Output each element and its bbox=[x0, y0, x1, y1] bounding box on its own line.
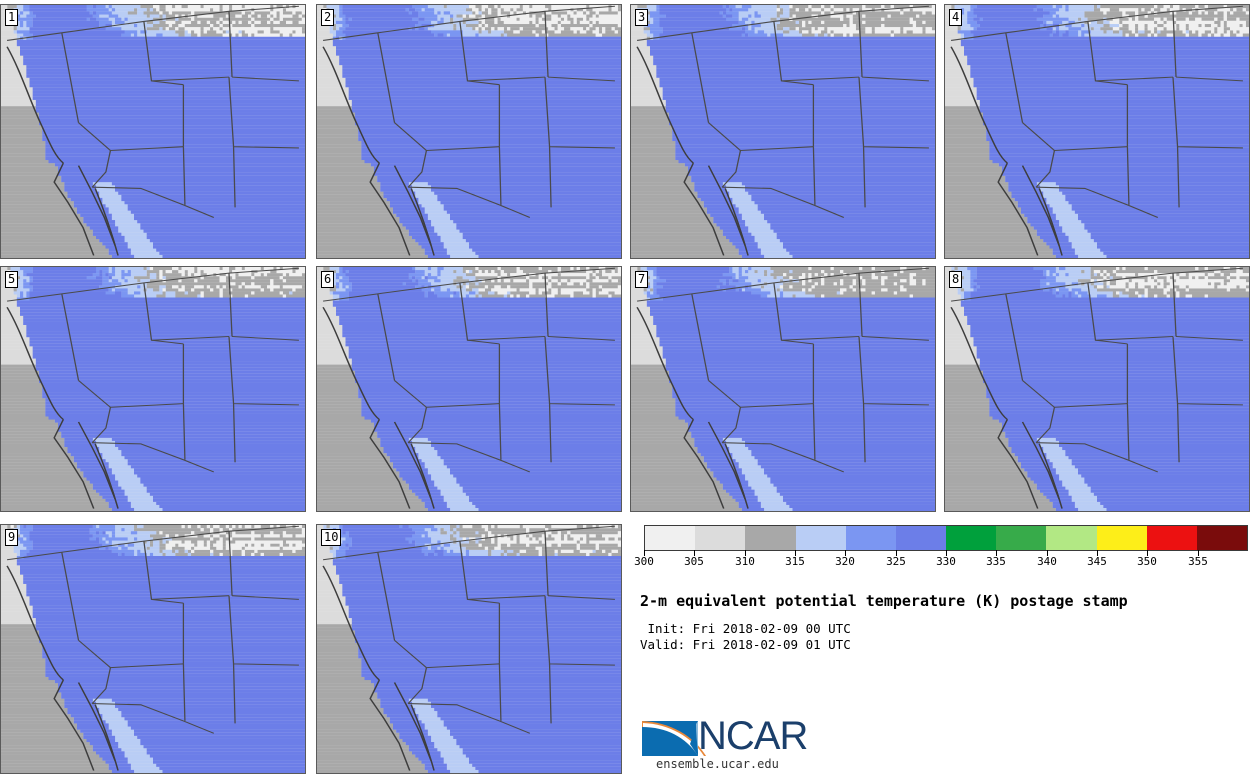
member-panel-10[interactable]: 10 bbox=[316, 524, 622, 774]
member-panel-4[interactable]: 4 bbox=[944, 4, 1250, 259]
colorbar-swatch bbox=[796, 526, 846, 550]
colorbar-swatch bbox=[645, 526, 695, 550]
colorbar-tick-label: 330 bbox=[936, 555, 956, 568]
figure-canvas: 12345678910 3003053103153203253303353403… bbox=[0, 0, 1260, 778]
colorbar-tick-label: 310 bbox=[735, 555, 755, 568]
colorbar-swatch bbox=[1197, 526, 1247, 550]
colorbar-tick-label: 320 bbox=[835, 555, 855, 568]
colorbar: 300305310315320325330335340345350355 bbox=[644, 525, 1248, 551]
init-time-text: Init: Fri 2018-02-09 00 UTC bbox=[640, 621, 851, 636]
member-panel-5[interactable]: 5 bbox=[0, 266, 306, 512]
colorbar-swatches bbox=[644, 525, 1248, 551]
colorbar-swatch bbox=[1046, 526, 1096, 550]
ncar-wordmark: NCAR bbox=[698, 716, 807, 756]
member-map-field bbox=[631, 5, 935, 258]
member-panel-6[interactable]: 6 bbox=[316, 266, 622, 512]
colorbar-swatch bbox=[996, 526, 1046, 550]
legend-title: 2-m equivalent potential temperature (K)… bbox=[640, 592, 1128, 610]
member-number-label: 3 bbox=[635, 9, 648, 26]
member-panel-1[interactable]: 1 bbox=[0, 4, 306, 259]
colorbar-swatch bbox=[896, 526, 946, 550]
colorbar-tick-label: 335 bbox=[986, 555, 1006, 568]
member-map-field bbox=[1, 5, 305, 258]
member-map-field bbox=[1, 267, 305, 511]
colorbar-tick-label: 345 bbox=[1087, 555, 1107, 568]
colorbar-swatch bbox=[1147, 526, 1197, 550]
member-number-label: 1 bbox=[5, 9, 18, 26]
member-number-label: 8 bbox=[949, 271, 962, 288]
colorbar-swatch bbox=[846, 526, 896, 550]
member-panel-2[interactable]: 2 bbox=[316, 4, 622, 259]
member-panel-8[interactable]: 8 bbox=[944, 266, 1250, 512]
colorbar-swatch bbox=[1097, 526, 1147, 550]
member-panel-9[interactable]: 9 bbox=[0, 524, 306, 774]
member-number-label: 5 bbox=[5, 271, 18, 288]
valid-time-text: Valid: Fri 2018-02-09 01 UTC bbox=[640, 637, 851, 652]
colorbar-tick-label: 315 bbox=[785, 555, 805, 568]
member-panel-3[interactable]: 3 bbox=[630, 4, 936, 259]
colorbar-tick-label: 325 bbox=[886, 555, 906, 568]
colorbar-swatch bbox=[946, 526, 996, 550]
member-map-field bbox=[631, 267, 935, 511]
member-map-field bbox=[317, 5, 621, 258]
member-number-label: 10 bbox=[321, 529, 341, 546]
colorbar-tick-label: 355 bbox=[1188, 555, 1208, 568]
member-map-field bbox=[317, 267, 621, 511]
colorbar-tick-label: 350 bbox=[1137, 555, 1157, 568]
member-number-label: 6 bbox=[321, 271, 334, 288]
member-map-field bbox=[945, 267, 1249, 511]
colorbar-swatch bbox=[695, 526, 745, 550]
member-number-label: 4 bbox=[949, 9, 962, 26]
member-number-label: 7 bbox=[635, 271, 648, 288]
member-number-label: 9 bbox=[5, 529, 18, 546]
member-number-label: 2 bbox=[321, 9, 334, 26]
member-map-field bbox=[945, 5, 1249, 258]
colorbar-tick-label: 300 bbox=[634, 555, 654, 568]
colorbar-tick-labels: 300305310315320325330335340345350355 bbox=[644, 555, 1248, 569]
member-map-field bbox=[317, 525, 621, 773]
colorbar-swatch bbox=[745, 526, 795, 550]
member-map-field bbox=[1, 525, 305, 773]
colorbar-tick-label: 305 bbox=[684, 555, 704, 568]
member-panel-7[interactable]: 7 bbox=[630, 266, 936, 512]
colorbar-tick-label: 340 bbox=[1037, 555, 1057, 568]
ncar-logo: NCAR ensemble.ucar.edu bbox=[640, 712, 970, 776]
legend-block: 300305310315320325330335340345350355 2-m… bbox=[630, 518, 1260, 778]
ncar-url: ensemble.ucar.edu bbox=[656, 757, 779, 771]
